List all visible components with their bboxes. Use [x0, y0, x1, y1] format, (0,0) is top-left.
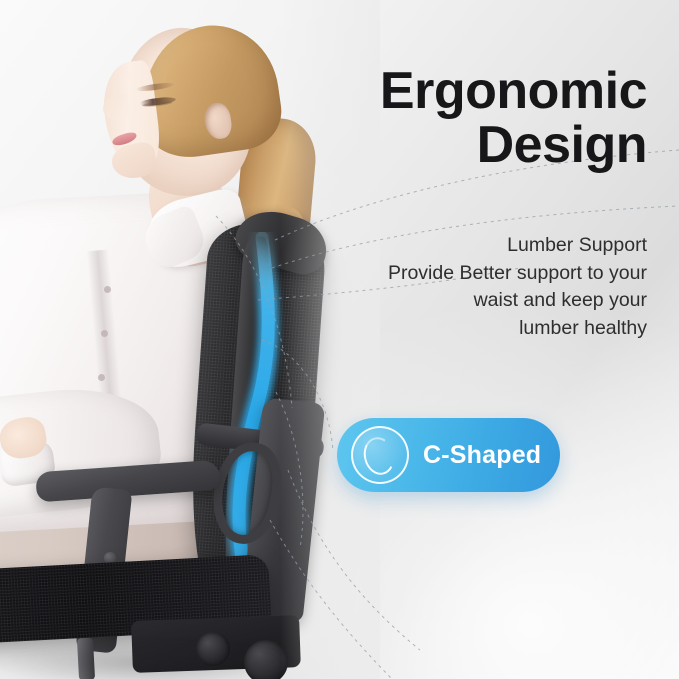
- subcopy-line-1: Lumber Support: [317, 232, 647, 260]
- shirt-button: [98, 374, 105, 381]
- chair-shadow: [0, 640, 300, 679]
- shirt-button: [104, 286, 111, 293]
- page-title: Ergonomic Design: [347, 64, 647, 172]
- badge-label: C-Shaped: [423, 443, 541, 468]
- subcopy-line-3: waist and keep your: [317, 287, 647, 315]
- c-shape-arc: [360, 434, 398, 478]
- headline-line-1: Ergonomic: [347, 64, 647, 118]
- subcopy-line-2: Provide Better support to your: [317, 260, 647, 288]
- product-feature-banner: Ergonomic Design Lumber Support Provide …: [0, 0, 679, 679]
- headline-line-2: Design: [347, 118, 647, 172]
- c-shaped-badge: C-Shaped: [337, 418, 560, 492]
- shirt-button: [101, 330, 108, 337]
- feature-description: Lumber Support Provide Better support to…: [317, 232, 647, 343]
- c-shape-icon: [351, 426, 409, 484]
- subcopy-line-4: lumber healthy: [317, 315, 647, 343]
